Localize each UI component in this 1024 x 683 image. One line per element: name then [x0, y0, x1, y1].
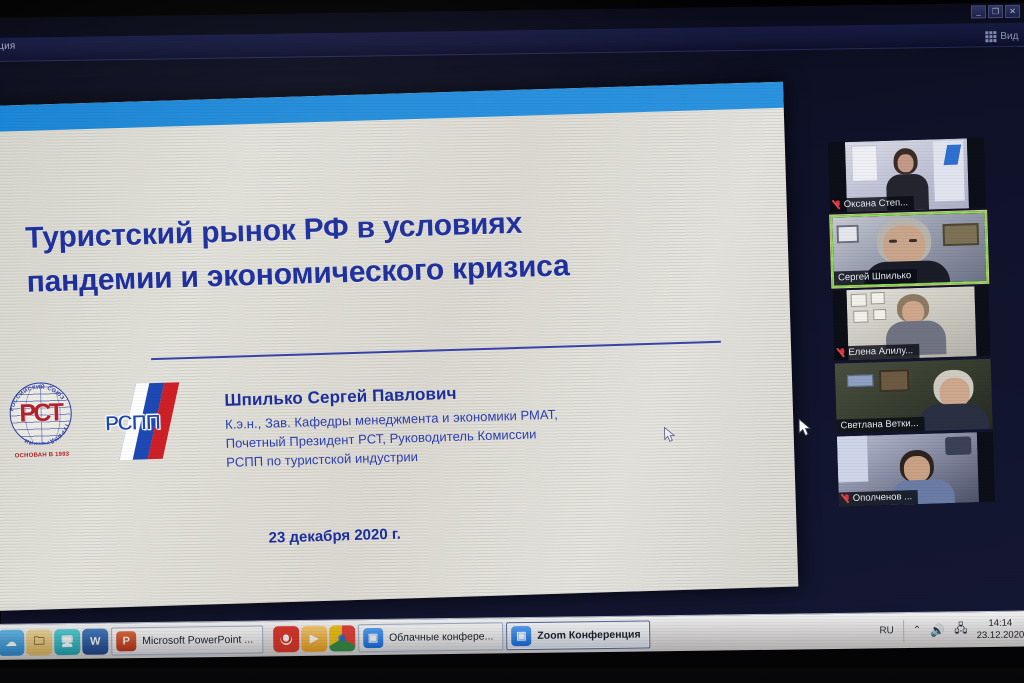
zoom-icon: ▣: [511, 625, 531, 645]
zoom-title-bar[interactable]: [0, 23, 1024, 62]
taskbar-item-powerpoint[interactable]: P Microsoft PowerPoint ...: [111, 625, 263, 655]
cloud-icon[interactable]: ☁: [0, 629, 24, 655]
taskbar-item-zoom-cloud[interactable]: ▣ Облачные конфере...: [358, 622, 504, 652]
powerpoint-icon: P: [116, 631, 136, 651]
minimize-button[interactable]: _: [971, 5, 986, 18]
mic-muted-icon: [838, 348, 845, 358]
zoom-icon: ▣: [363, 627, 383, 647]
shared-screen-slide[interactable]: Туристский рынок РФ в условиях пандемии …: [0, 82, 798, 611]
taskbar-item-label: Облачные конфере...: [389, 630, 493, 643]
tray-divider: [903, 620, 904, 642]
rst-logo: РСТ РОССИЙСКИЙ СОЮЗ ТУРИНДУСТРИИ ОСНОВАН…: [2, 381, 79, 481]
participant-name: Оксана Степ...: [844, 197, 909, 210]
display-app-icon[interactable]: 🖥: [54, 628, 80, 654]
participant-tile[interactable]: Елена Алилу...: [832, 286, 990, 361]
participant-name-badge: Оксана Степ...: [830, 196, 915, 213]
monitor-bezel-bottom: [0, 668, 1024, 683]
taskbar-pinned-icons[interactable]: ☁ 🗀 🖥 W: [0, 628, 108, 655]
participant-name-badge: Елена Алилу...: [834, 343, 919, 360]
mouse-cursor-icon: [798, 418, 812, 438]
network-icon[interactable]: 🖧: [954, 619, 968, 640]
file-explorer-icon[interactable]: 🗀: [26, 629, 52, 655]
chrome-icon[interactable]: ◉: [329, 625, 355, 651]
opera-icon[interactable]: O: [273, 626, 299, 652]
participant-name-badge: Светлана Ветки...: [836, 416, 924, 433]
rspp-logo: РСПП: [100, 382, 188, 461]
presenter-info: Шпилько Сергей Павлович К.э.н., Зав. Каф…: [224, 377, 696, 473]
language-indicator[interactable]: RU: [879, 625, 894, 636]
slide-divider-rule: [151, 341, 721, 360]
taskbar-clock[interactable]: 14:14 23.12.2020: [976, 617, 1024, 641]
participant-name-badge: Сергей Шпилько: [834, 268, 918, 285]
system-tray[interactable]: RU ⌃ 🔊 🖧 14:14 23.12.2020: [879, 617, 1024, 643]
participant-name: Сергей Шпилько: [838, 270, 911, 283]
participant-name: Светлана Ветки...: [840, 418, 918, 431]
word-icon[interactable]: W: [82, 628, 108, 654]
window-controls[interactable]: _ ❐ ✕: [971, 5, 1020, 19]
view-mode-button[interactable]: Вид: [985, 31, 1018, 42]
slide-header-band: [0, 82, 784, 132]
participant-name-badge: Ополченов ...: [839, 490, 919, 507]
taskbar-browser-icons[interactable]: O ▶ ◉: [269, 625, 355, 652]
rspp-wordmark: РСПП: [105, 411, 161, 437]
participant-name: Елена Алилу...: [848, 345, 913, 358]
zoom-application-window: нция _ ❐ ✕ Вид Туристский рынок РФ в усл…: [0, 3, 1024, 628]
mouse-cursor-icon: [663, 426, 676, 443]
view-button-label: Вид: [1000, 31, 1018, 42]
clock-date: 23.12.2020: [977, 629, 1024, 641]
close-button[interactable]: ✕: [1005, 5, 1020, 18]
rst-ring-text-icon: РОССИЙСКИЙ СОЮЗ ТУРИНДУСТРИИ: [2, 381, 80, 445]
slide-date: 23 декабря 2020 г.: [268, 526, 401, 547]
taskbar-spacer: [651, 631, 880, 634]
svg-text:ТУРИНДУСТРИИ: ТУРИНДУСТРИИ: [23, 422, 70, 445]
svg-text:РОССИЙСКИЙ СОЮЗ: РОССИЙСКИЙ СОЮЗ: [8, 382, 65, 412]
participant-name: Ополченов ...: [853, 491, 913, 504]
clock-time: 14:14: [976, 617, 1024, 629]
participant-tile[interactable]: Оксана Степ...: [828, 138, 986, 213]
participant-tile[interactable]: Ополченов ...: [837, 432, 995, 507]
taskbar-item-label: Zoom Конференция: [537, 628, 640, 641]
mic-muted-icon: [843, 494, 850, 504]
screen-photo: нция _ ❐ ✕ Вид Туристский рынок РФ в усл…: [0, 0, 1024, 683]
zoom-window-title: нция: [0, 41, 16, 52]
volume-icon[interactable]: 🔊: [930, 623, 945, 637]
rst-founded-text: ОСНОВАН В 1993: [4, 451, 80, 459]
grid-view-icon: [985, 31, 996, 42]
show-hidden-icons-button[interactable]: ⌃: [913, 625, 922, 636]
mic-muted-icon: [834, 200, 841, 210]
slide-title: Туристский рынок РФ в условиях пандемии …: [25, 196, 727, 306]
participant-tile-active-speaker[interactable]: Сергей Шпилько: [830, 211, 988, 288]
taskbar-item-zoom-meeting[interactable]: ▣ Zoom Конференция: [506, 620, 651, 650]
media-player-icon[interactable]: ▶: [301, 625, 327, 651]
participant-filmstrip[interactable]: Оксана Степ... Сергей Шпилько: [828, 138, 995, 510]
taskbar-item-label: Microsoft PowerPoint ...: [142, 633, 253, 646]
powerpoint-slide: Туристский рынок РФ в условиях пандемии …: [0, 82, 798, 611]
participant-tile[interactable]: Светлана Ветки...: [835, 359, 993, 434]
restore-button[interactable]: ❐: [988, 5, 1003, 18]
